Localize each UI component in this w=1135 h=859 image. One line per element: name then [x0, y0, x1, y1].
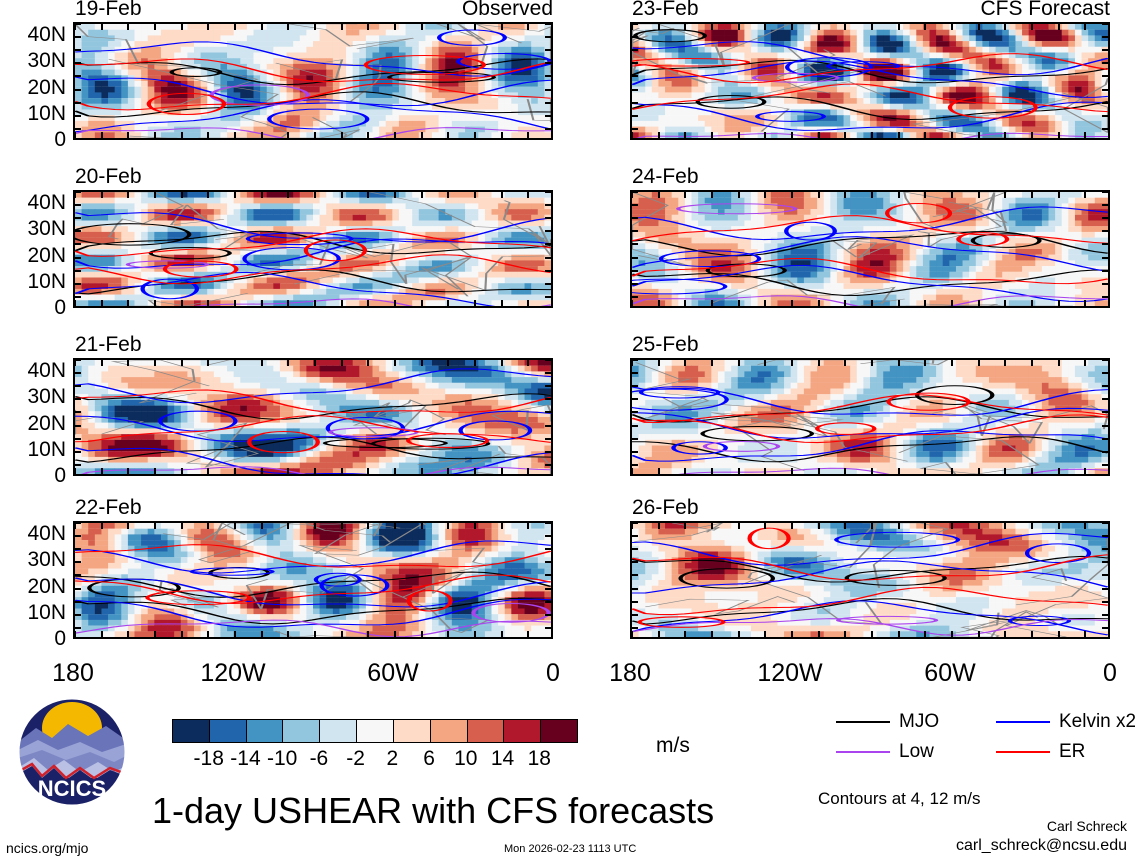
colorbar-swatch: [210, 720, 247, 742]
y-axis-label: 0: [0, 628, 66, 649]
colorbar-tick-label: -10: [267, 748, 297, 769]
author-email[interactable]: carl_schreck@ncsu.edu: [956, 838, 1127, 854]
x-tick: [951, 523, 953, 529]
figure-title: 1-day USHEAR with CFS forecasts: [152, 793, 714, 829]
y-tick: [632, 385, 638, 387]
x-tick: [181, 523, 183, 529]
x-tick: [924, 192, 926, 198]
x-tick: [527, 360, 529, 366]
y-tick: [75, 243, 81, 245]
y-axis-label: 20N: [0, 576, 66, 597]
y-tick: [545, 128, 551, 130]
x-tick: [314, 24, 316, 30]
legend-line-swatch: [996, 751, 1050, 753]
x-tick: [764, 300, 766, 306]
x-tick: [791, 523, 793, 529]
x-tick: [631, 631, 633, 637]
x-tick: [978, 631, 980, 637]
x-tick: [234, 300, 236, 306]
x-tick: [1058, 468, 1060, 474]
shaded-field: [75, 360, 551, 474]
y-tick: [1102, 217, 1108, 219]
x-tick: [978, 523, 980, 529]
x-tick: [738, 300, 740, 306]
colorbar-swatch: [357, 720, 394, 742]
x-tick: [658, 631, 660, 637]
x-tick: [978, 360, 980, 366]
y-tick: [545, 614, 551, 616]
y-axis-label: 0: [0, 297, 66, 318]
x-tick: [924, 360, 926, 366]
x-tick: [738, 631, 740, 637]
x-tick: [501, 132, 503, 138]
x-tick: [527, 523, 529, 529]
x-axis-label: 0: [1103, 661, 1117, 686]
x-tick: [394, 24, 396, 30]
y-tick: [545, 522, 551, 524]
x-tick: [181, 192, 183, 198]
x-tick: [101, 192, 103, 198]
y-tick: [75, 464, 81, 466]
y-tick: [545, 89, 551, 91]
y-tick: [545, 627, 551, 629]
y-tick: [75, 23, 81, 25]
x-tick: [1004, 24, 1006, 30]
x-tick: [844, 192, 846, 198]
column-header-forecast: CFS Forecast: [980, 0, 1110, 19]
colorbar-tick-labels: -18-14-10-6-226101418: [172, 748, 576, 772]
x-tick: [871, 132, 873, 138]
x-tick: [527, 132, 529, 138]
y-tick: [75, 451, 81, 453]
y-tick: [545, 464, 551, 466]
x-axis-label: 60W: [924, 661, 975, 686]
x-tick: [951, 300, 953, 306]
y-axis-label: 20N: [0, 245, 66, 266]
contour-note: Contours at 4, 12 m/s: [818, 790, 981, 807]
shaded-field: [632, 192, 1108, 306]
x-tick: [101, 132, 103, 138]
y-tick: [545, 535, 551, 537]
x-tick: [127, 24, 129, 30]
x-tick: [207, 24, 209, 30]
y-tick: [545, 411, 551, 413]
x-tick: [844, 360, 846, 366]
y-tick: [545, 398, 551, 400]
x-tick: [287, 24, 289, 30]
x-tick: [287, 631, 289, 637]
y-tick: [545, 385, 551, 387]
legend-label: Low: [899, 742, 934, 761]
colorbar-tick-label: 6: [423, 748, 435, 769]
x-tick: [127, 300, 129, 306]
y-tick: [1102, 398, 1108, 400]
panel-date-label: 21-Feb: [75, 334, 142, 355]
colorbar-tick-label: -6: [310, 748, 329, 769]
plot-area-24-feb: [630, 190, 1110, 308]
x-tick: [711, 192, 713, 198]
x-tick: [341, 360, 343, 366]
x-tick: [871, 24, 873, 30]
x-tick: [527, 631, 529, 637]
y-tick: [545, 601, 551, 603]
x-tick: [1004, 132, 1006, 138]
y-tick: [632, 425, 638, 427]
x-tick: [738, 24, 740, 30]
x-tick: [314, 360, 316, 366]
x-tick: [367, 468, 369, 474]
x-tick: [501, 523, 503, 529]
x-tick: [711, 631, 713, 637]
y-tick: [75, 548, 81, 550]
y-axis-label: 40N: [0, 24, 66, 45]
y-axis-label: 30N: [0, 50, 66, 71]
x-tick: [527, 24, 529, 30]
x-tick: [898, 192, 900, 198]
x-tick: [527, 468, 529, 474]
x-tick: [898, 360, 900, 366]
y-tick: [75, 89, 81, 91]
y-tick: [75, 283, 81, 285]
x-tick: [738, 523, 740, 529]
y-tick: [632, 574, 638, 576]
y-axis-label: 10N: [0, 602, 66, 623]
x-tick: [898, 132, 900, 138]
y-tick: [545, 548, 551, 550]
x-tick: [1031, 523, 1033, 529]
column-header-observed: Observed: [462, 0, 553, 19]
y-axis-label: 30N: [0, 549, 66, 570]
y-tick: [75, 588, 81, 590]
plot-area-25-feb: [630, 358, 1110, 476]
y-tick: [75, 398, 81, 400]
x-tick: [631, 132, 633, 138]
colorbar-tick-label: 14: [491, 748, 514, 769]
x-tick: [261, 24, 263, 30]
colorbar-tick-label: -18: [194, 748, 224, 769]
x-tick: [898, 523, 900, 529]
x-axis-label: 180: [609, 661, 651, 686]
x-tick: [791, 360, 793, 366]
x-tick: [818, 24, 820, 30]
x-tick: [1031, 468, 1033, 474]
x-axis-label: 120W: [757, 661, 822, 686]
author-name: Carl Schreck: [1047, 819, 1127, 833]
x-tick: [898, 468, 900, 474]
x-tick: [127, 523, 129, 529]
x-tick: [234, 360, 236, 366]
x-tick: [924, 300, 926, 306]
y-axis-label: 20N: [0, 413, 66, 434]
x-tick: [207, 132, 209, 138]
y-tick: [632, 270, 638, 272]
y-tick: [75, 75, 81, 77]
x-tick: [314, 468, 316, 474]
y-axis-label: 30N: [0, 218, 66, 239]
site-url[interactable]: ncics.org/mjo: [6, 841, 88, 855]
plot-area-20-feb: [73, 190, 553, 308]
x-tick: [764, 132, 766, 138]
colorbar-swatch: [320, 720, 357, 742]
y-tick: [75, 217, 81, 219]
x-tick: [684, 132, 686, 138]
shaded-field: [632, 523, 1108, 637]
x-tick: [314, 631, 316, 637]
x-tick: [978, 132, 980, 138]
y-tick: [545, 49, 551, 51]
x-tick: [394, 192, 396, 198]
x-tick: [367, 631, 369, 637]
y-tick: [632, 230, 638, 232]
x-tick: [951, 631, 953, 637]
x-tick: [181, 631, 183, 637]
x-tick: [1058, 631, 1060, 637]
y-tick: [1102, 561, 1108, 563]
x-tick: [871, 468, 873, 474]
x-tick: [951, 192, 953, 198]
x-tick: [287, 300, 289, 306]
x-tick: [898, 300, 900, 306]
legend-line-swatch: [996, 721, 1050, 723]
x-tick: [871, 631, 873, 637]
x-tick: [844, 631, 846, 637]
x-tick: [711, 300, 713, 306]
y-tick: [1102, 49, 1108, 51]
x-tick: [207, 300, 209, 306]
x-tick: [501, 300, 503, 306]
x-tick: [287, 192, 289, 198]
x-tick: [1031, 24, 1033, 30]
y-tick: [1102, 204, 1108, 206]
y-tick: [1102, 23, 1108, 25]
y-tick: [632, 372, 638, 374]
x-tick: [287, 523, 289, 529]
x-tick: [127, 360, 129, 366]
y-axis-label: 10N: [0, 439, 66, 460]
x-tick: [684, 631, 686, 637]
x-tick: [447, 24, 449, 30]
x-tick: [684, 360, 686, 366]
x-tick: [1084, 300, 1086, 306]
y-tick: [75, 535, 81, 537]
x-tick: [658, 300, 660, 306]
y-tick: [1102, 230, 1108, 232]
y-tick: [1102, 191, 1108, 193]
y-tick: [545, 75, 551, 77]
y-tick: [632, 548, 638, 550]
colorbar-tick-label: 2: [387, 748, 399, 769]
x-tick: [101, 24, 103, 30]
plot-area-22-feb: [73, 521, 553, 639]
shaded-field: [75, 523, 551, 637]
x-tick: [367, 360, 369, 366]
x-tick: [684, 523, 686, 529]
y-tick: [75, 204, 81, 206]
x-tick: [711, 360, 713, 366]
x-tick: [791, 300, 793, 306]
x-tick: [658, 468, 660, 474]
y-tick: [632, 62, 638, 64]
x-tick: [951, 24, 953, 30]
y-tick: [632, 359, 638, 361]
x-tick: [501, 24, 503, 30]
x-tick: [421, 631, 423, 637]
colorbar-swatch: [394, 720, 431, 742]
y-tick: [75, 128, 81, 130]
x-tick: [101, 360, 103, 366]
y-tick: [1102, 62, 1108, 64]
x-tick: [154, 631, 156, 637]
x-tick: [154, 300, 156, 306]
x-tick: [658, 24, 660, 30]
x-tick: [791, 631, 793, 637]
y-tick: [75, 359, 81, 361]
legend-line-swatch: [836, 721, 890, 723]
x-tick: [394, 631, 396, 637]
x-tick: [314, 132, 316, 138]
x-tick: [154, 192, 156, 198]
x-tick: [74, 631, 76, 637]
y-tick: [632, 614, 638, 616]
x-tick: [261, 631, 263, 637]
legend-entry-low: Low: [836, 742, 934, 761]
x-tick: [818, 360, 820, 366]
x-tick: [924, 468, 926, 474]
shaded-field: [75, 24, 551, 138]
x-tick: [658, 360, 660, 366]
y-axis-label: 40N: [0, 523, 66, 544]
x-tick: [924, 631, 926, 637]
y-tick: [1102, 425, 1108, 427]
x-tick: [978, 192, 980, 198]
x-tick: [447, 132, 449, 138]
x-tick: [421, 468, 423, 474]
y-tick: [632, 296, 638, 298]
x-tick: [394, 360, 396, 366]
x-tick: [898, 24, 900, 30]
x-tick: [474, 132, 476, 138]
y-tick: [632, 283, 638, 285]
x-tick: [871, 300, 873, 306]
x-tick: [818, 631, 820, 637]
y-tick: [632, 438, 638, 440]
y-tick: [1102, 464, 1108, 466]
x-tick: [421, 360, 423, 366]
y-tick: [632, 588, 638, 590]
x-tick: [818, 132, 820, 138]
y-tick: [632, 115, 638, 117]
x-tick: [261, 132, 263, 138]
x-tick: [844, 132, 846, 138]
y-tick: [1102, 89, 1108, 91]
x-tick: [74, 300, 76, 306]
x-tick: [287, 468, 289, 474]
colorbar-swatch: [504, 720, 541, 742]
x-tick: [1004, 468, 1006, 474]
x-tick: [447, 192, 449, 198]
y-tick: [75, 574, 81, 576]
y-tick: [545, 36, 551, 38]
x-tick: [127, 132, 129, 138]
x-tick: [951, 360, 953, 366]
x-tick: [501, 631, 503, 637]
x-tick: [1058, 132, 1060, 138]
y-tick: [1102, 75, 1108, 77]
x-tick: [447, 468, 449, 474]
x-tick: [234, 132, 236, 138]
y-tick: [75, 257, 81, 259]
y-axis-label: 20N: [0, 77, 66, 98]
x-axis-label: 180: [52, 661, 94, 686]
y-tick: [75, 561, 81, 563]
x-tick: [74, 132, 76, 138]
x-tick: [234, 192, 236, 198]
legend-entry-mjo: MJO: [836, 712, 939, 731]
x-tick: [1031, 631, 1033, 637]
y-tick: [632, 243, 638, 245]
x-tick: [791, 192, 793, 198]
x-tick: [818, 300, 820, 306]
colorbar-swatch: [468, 720, 505, 742]
y-axis-label: 0: [0, 129, 66, 150]
x-tick: [951, 468, 953, 474]
y-tick: [1102, 243, 1108, 245]
x-tick: [764, 192, 766, 198]
x-tick: [738, 132, 740, 138]
x-tick: [287, 132, 289, 138]
x-tick: [501, 468, 503, 474]
x-tick: [181, 468, 183, 474]
x-tick: [421, 192, 423, 198]
y-tick: [632, 535, 638, 537]
x-tick: [818, 523, 820, 529]
x-tick: [341, 24, 343, 30]
x-tick: [207, 523, 209, 529]
x-tick: [527, 300, 529, 306]
x-tick: [447, 523, 449, 529]
x-tick: [1004, 631, 1006, 637]
y-tick: [75, 438, 81, 440]
colorbar-swatch: [173, 720, 210, 742]
x-tick: [181, 132, 183, 138]
x-tick: [154, 468, 156, 474]
panel-date-label: 25-Feb: [632, 334, 699, 355]
y-tick: [632, 627, 638, 629]
x-tick: [394, 468, 396, 474]
x-tick: [924, 523, 926, 529]
y-tick: [75, 411, 81, 413]
y-tick: [1102, 601, 1108, 603]
y-tick: [545, 283, 551, 285]
x-tick: [791, 24, 793, 30]
x-tick: [261, 300, 263, 306]
legend-label: ER: [1059, 742, 1085, 761]
x-tick: [1031, 360, 1033, 366]
x-tick: [261, 468, 263, 474]
plot-area-21-feb: [73, 358, 553, 476]
x-tick: [234, 523, 236, 529]
y-tick: [1102, 115, 1108, 117]
x-tick: [844, 468, 846, 474]
y-tick: [545, 296, 551, 298]
x-tick: [1084, 468, 1086, 474]
x-tick: [101, 523, 103, 529]
y-tick: [1102, 385, 1108, 387]
x-tick: [1058, 24, 1060, 30]
x-tick: [447, 360, 449, 366]
y-tick: [545, 217, 551, 219]
y-tick: [75, 191, 81, 193]
